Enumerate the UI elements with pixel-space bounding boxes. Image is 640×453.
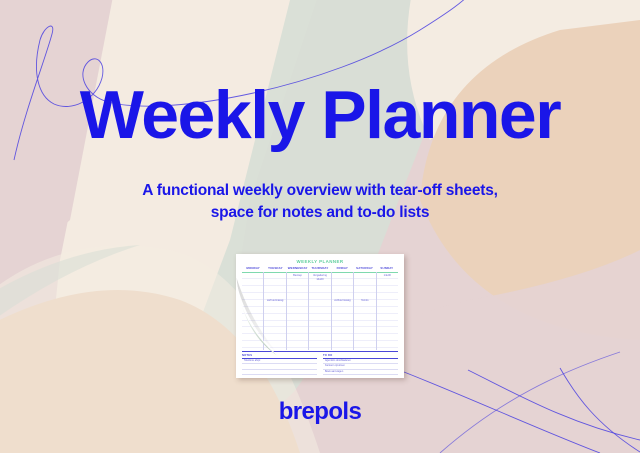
day-header-friday: FRIDAY — [331, 266, 353, 271]
row-lines — [264, 272, 285, 350]
subtitle-line-1: A functional weekly overview with tear-o… — [0, 180, 640, 202]
day-note-mid: verhuurmassg — [264, 299, 285, 303]
page-title-container: Weekly Planner — [0, 78, 640, 152]
row-lines — [354, 272, 375, 350]
planner-day-headers: MONDAY TUESDAY WEDNESDAY THURSDAY FRIDAY… — [242, 266, 398, 271]
planner-divider — [242, 351, 398, 352]
day-column-tuesday: verhuurmassg — [264, 272, 286, 350]
day-note-top: Vergadering 14u00 — [309, 274, 330, 281]
day-note-top: 14u00 — [377, 274, 398, 278]
day-header-monday: MONDAY — [242, 266, 264, 271]
day-column-sunday: 14u00 — [377, 272, 398, 350]
planner-sheet: WEEKLY PLANNER MONDAY TUESDAY WEDNESDAY … — [236, 254, 404, 378]
planner-product-image: WEEKLY PLANNER MONDAY TUESDAY WEDNESDAY … — [236, 254, 404, 378]
row-lines — [287, 272, 308, 350]
day-header-sunday: SUNDAY — [376, 266, 398, 271]
day-column-monday — [242, 272, 264, 350]
subtitle-container: A functional weekly overview with tear-o… — [0, 180, 640, 224]
day-note-mid: verhuurmassg — [332, 299, 353, 303]
day-note-mid: Tennis — [354, 299, 375, 303]
day-header-tuesday: TUESDAY — [264, 266, 286, 271]
planner-title: WEEKLY PLANNER — [242, 258, 398, 265]
day-column-saturday: Tennis — [354, 272, 376, 350]
row-lines — [242, 272, 263, 350]
row-lines — [377, 272, 398, 350]
day-column-thursday: Vergadering 14u00 — [309, 272, 331, 350]
planner-todo-block: TO DO Agenda's doorbladeren Kantoor opru… — [323, 354, 398, 376]
day-note-top: Bezoep — [287, 274, 308, 278]
planner-bottom-section: NOTES Telefonie afspr. TO DO Agenda's do… — [242, 354, 398, 376]
day-column-wednesday: Bezoep — [287, 272, 309, 350]
page-title: Weekly Planner — [0, 78, 640, 152]
day-header-wednesday: WEDNESDAY — [287, 266, 309, 271]
planner-week-grid: verhuurmassg Bezoep Vergadering 14u00 ve… — [242, 272, 398, 350]
brand-container: brepols — [0, 398, 640, 426]
swirl-line-icon — [0, 0, 640, 453]
row-lines — [309, 272, 330, 350]
day-header-saturday: SATURDAY — [353, 266, 375, 271]
brepols-logo: brepols — [0, 398, 640, 426]
planner-notes-block: NOTES Telefonie afspr. — [242, 354, 317, 376]
subtitle-line-2: space for notes and to-do lists — [0, 202, 640, 224]
planner-brand-logo: brepols — [242, 377, 398, 378]
poster-canvas: Weekly Planner A functional weekly overv… — [0, 0, 640, 453]
todo-item: Boek aanvragen — [323, 370, 398, 375]
day-header-thursday: THURSDAY — [309, 266, 331, 271]
notes-item — [242, 370, 317, 375]
row-lines — [332, 272, 353, 350]
day-column-friday: verhuurmassg — [332, 272, 354, 350]
